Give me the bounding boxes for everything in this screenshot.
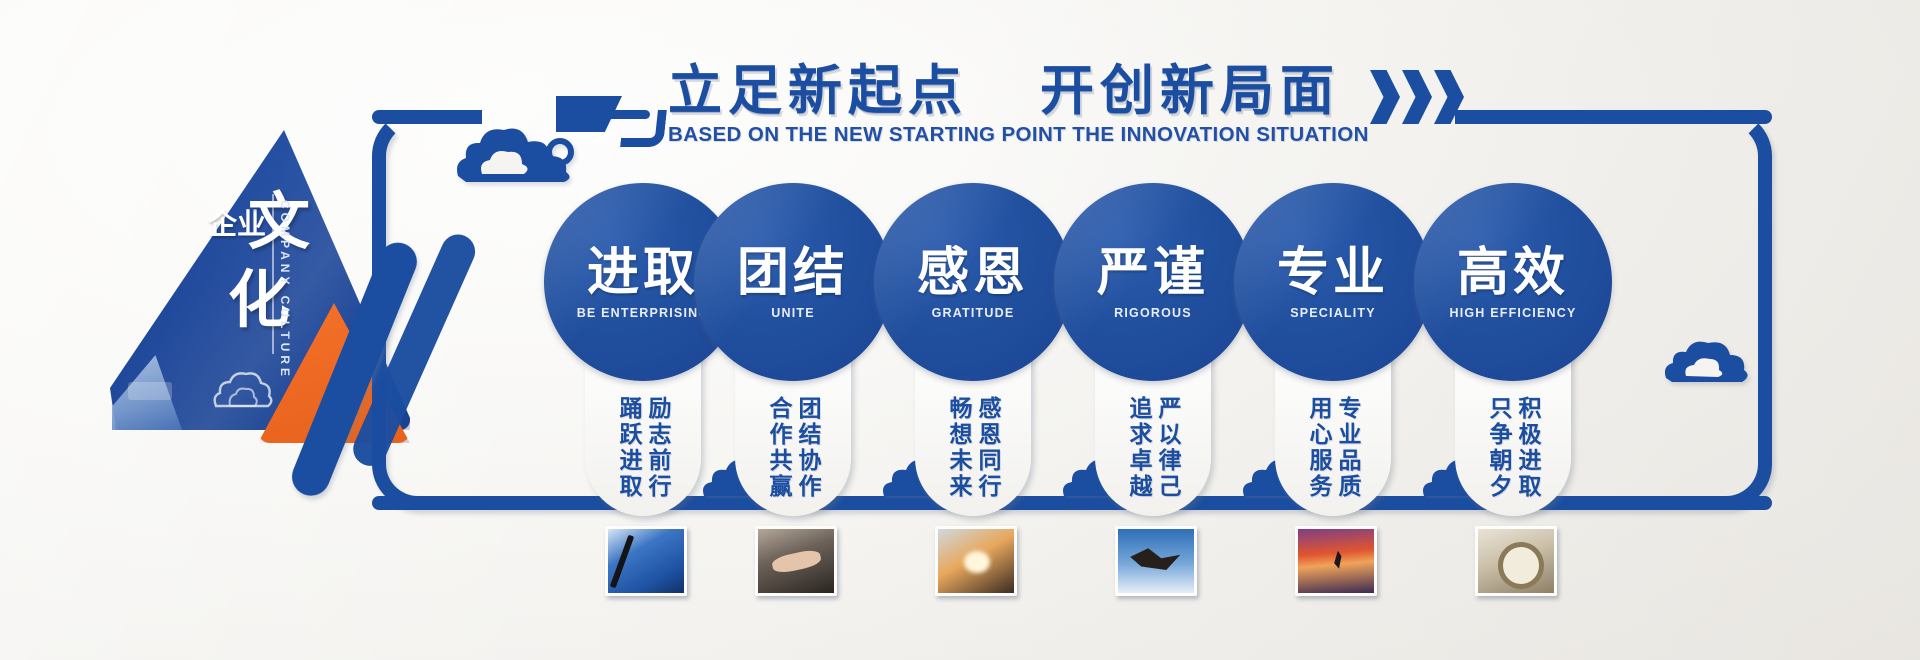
value-pill-zhuanye[interactable]: 专业 SPECIALITY 专业品质 用心服务	[1275, 196, 1391, 516]
pill-title-en-6: HIGH EFFICIENCY	[1449, 306, 1576, 320]
pocket-watch-photo	[1475, 526, 1557, 596]
pill-slogan-right-5: 专业品质	[1335, 396, 1360, 514]
pill-title-cn-4: 严谨	[1097, 245, 1209, 301]
pill-title-en-4: RIGOROUS	[1114, 306, 1192, 320]
surfer-sunset-photo	[1295, 526, 1377, 596]
pill-slogan-left-6: 只争朝夕	[1486, 396, 1511, 514]
culture-wall: 企业 文 化 COMPANY CULTURE 立足新起点 开创新局面 BASED…	[0, 0, 1920, 660]
pill-slogan-3: 感恩同行 畅想未来	[923, 396, 1023, 514]
pill-slogan-left-2: 合作共赢	[766, 396, 791, 514]
pill-slogan-right-1: 励志前行	[645, 396, 670, 514]
pill-slogan-right-4: 严以律己	[1155, 396, 1180, 514]
pill-slogan-right-3: 感恩同行	[975, 396, 1000, 514]
pill-slogan-right-6: 积极进取	[1515, 396, 1540, 514]
pill-disc-4[interactable]: 严谨 RIGOROUS	[1054, 183, 1252, 381]
value-pill-jinqu[interactable]: 进取 BE ENTERPRISING 励志前行 踊跃进取	[585, 196, 701, 516]
pill-slogan-left-4: 追求卓越	[1126, 396, 1151, 514]
pill-title-cn-5: 专业	[1277, 245, 1389, 301]
pill-disc-3[interactable]: 感恩 GRATITUDE	[874, 183, 1072, 381]
pill-slogan-left-1: 踊跃进取	[616, 396, 641, 514]
pill-title-en-5: SPECIALITY	[1290, 306, 1376, 320]
pill-slogan-left-3: 畅想未来	[946, 396, 971, 514]
value-pill-gaoxiao[interactable]: 高效 HIGH EFFICIENCY 积极进取 只争朝夕	[1455, 196, 1571, 516]
ice-climber-photo	[605, 526, 687, 596]
flying-eagle-photo	[1115, 526, 1197, 596]
value-pill-row: 进取 BE ENTERPRISING 励志前行 踊跃进取 团结 UNITE 团结…	[0, 0, 1920, 660]
pill-disc-5[interactable]: 专业 SPECIALITY	[1234, 183, 1432, 381]
pill-title-en-1: BE ENTERPRISING	[577, 306, 710, 320]
pill-slogan-5: 专业品质 用心服务	[1283, 396, 1383, 514]
pill-title-cn-1: 进取	[587, 245, 699, 301]
pill-disc-2[interactable]: 团结 UNITE	[694, 183, 892, 381]
pill-slogan-1: 励志前行 踊跃进取	[593, 396, 693, 514]
pill-slogan-left-5: 用心服务	[1306, 396, 1331, 514]
stacked-hands-photo	[755, 526, 837, 596]
pill-slogan-4: 严以律己 追求卓越	[1103, 396, 1203, 514]
pill-title-en-3: GRATITUDE	[932, 306, 1015, 320]
pill-title-cn-2: 团结	[737, 245, 849, 301]
pill-slogan-6: 积极进取 只争朝夕	[1463, 396, 1563, 514]
value-pill-yanjin[interactable]: 严谨 RIGOROUS 严以律己 追求卓越	[1095, 196, 1211, 516]
pill-slogan-right-2: 团结协作	[795, 396, 820, 514]
pill-title-en-2: UNITE	[771, 306, 815, 320]
reaching-silhouettes-photo	[935, 526, 1017, 596]
pill-title-cn-6: 高效	[1457, 245, 1569, 301]
pill-disc-6[interactable]: 高效 HIGH EFFICIENCY	[1414, 183, 1612, 381]
pill-slogan-2: 团结协作 合作共赢	[743, 396, 843, 514]
value-pill-ganen[interactable]: 感恩 GRATITUDE 感恩同行 畅想未来	[915, 196, 1031, 516]
pill-title-cn-3: 感恩	[917, 245, 1029, 301]
value-pill-tuanjie[interactable]: 团结 UNITE 团结协作 合作共赢	[735, 196, 851, 516]
